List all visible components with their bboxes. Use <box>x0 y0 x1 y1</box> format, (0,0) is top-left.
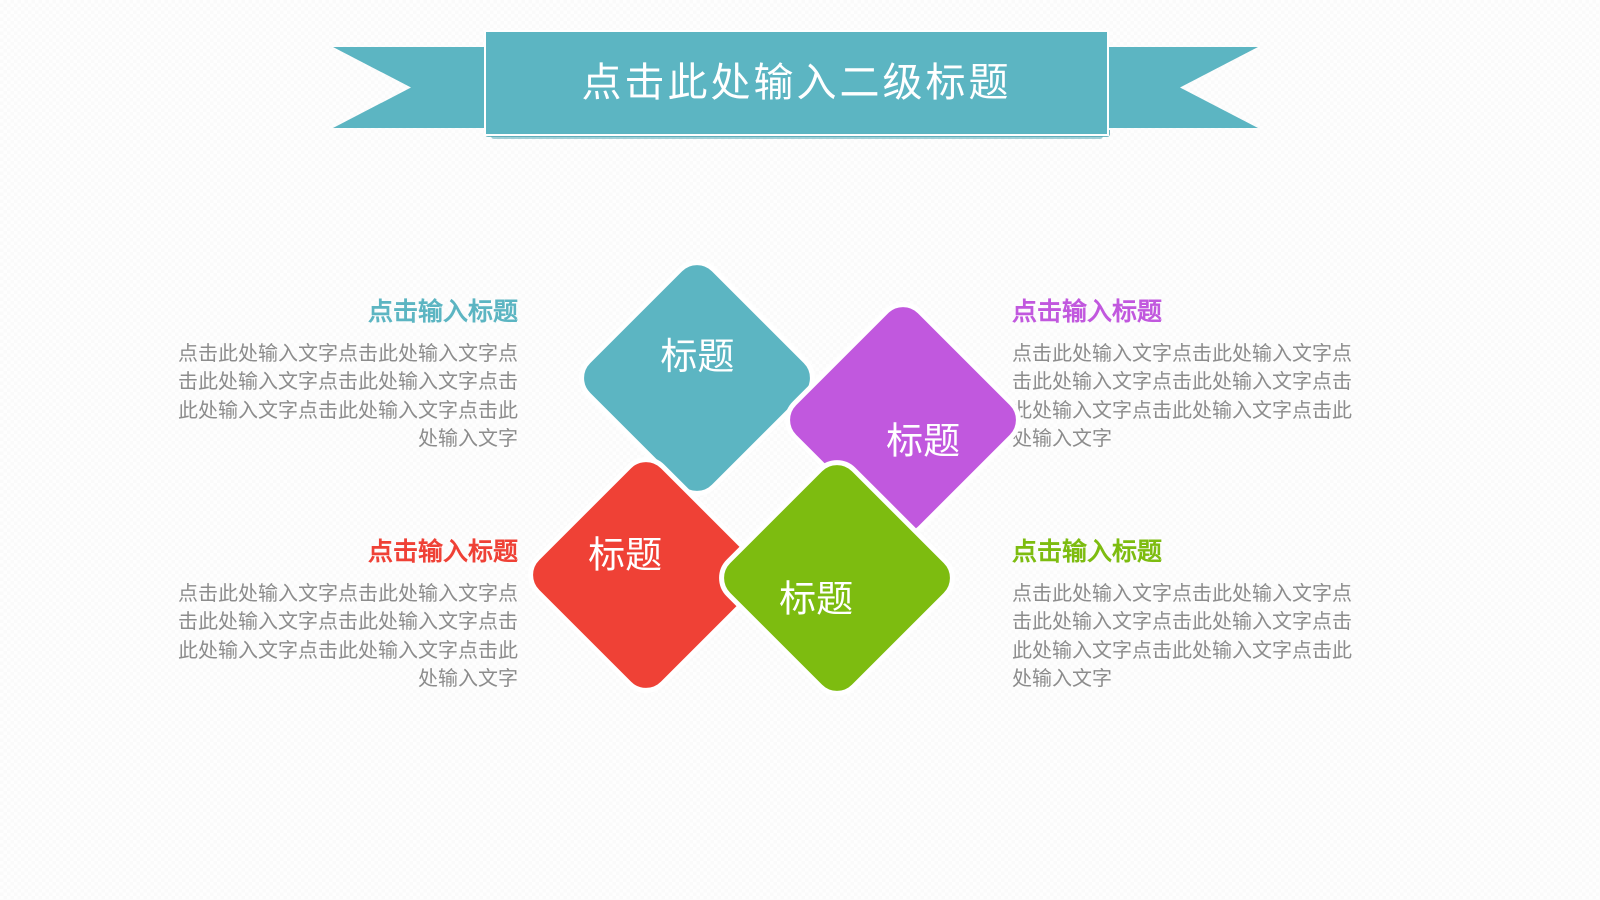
ribbon-banner: 点击此处输入二级标题 <box>333 30 1258 142</box>
diamond-label-green: 标题 <box>779 580 853 617</box>
diamond-label-purple: 标题 <box>887 422 961 459</box>
text-block-heading-bottom-right[interactable]: 点击输入标题 <box>1012 538 1362 567</box>
banner-title[interactable]: 点击此处输入二级标题 <box>582 63 1012 103</box>
text-block-body-top-right[interactable]: 点击此处输入文字点击此处输入文字点击此处输入文字点击此处输入文字点击此处输入文字… <box>1012 339 1362 453</box>
diamond-label-teal: 标题 <box>661 338 735 375</box>
text-block-body-top-left[interactable]: 点击此处输入文字点击此处输入文字点击此处输入文字点击此处输入文字点击此处输入文字… <box>168 339 518 453</box>
text-block-bottom-left: 点击输入标题 点击此处输入文字点击此处输入文字点击此处输入文字点击此处输入文字点… <box>168 538 518 692</box>
diamond-shape-teal[interactable]: 标题 <box>568 249 825 506</box>
text-block-top-right: 点击输入标题 点击此处输入文字点击此处输入文字点击此处输入文字点击此处输入文字点… <box>1012 298 1362 452</box>
diamond-label-red: 标题 <box>588 536 662 573</box>
text-block-top-left: 点击输入标题 点击此处输入文字点击此处输入文字点击此处输入文字点击此处输入文字点… <box>168 298 518 452</box>
diamond-cluster: 标题 标题 标题 标题 <box>540 270 1000 720</box>
text-block-heading-bottom-left[interactable]: 点击输入标题 <box>168 538 518 567</box>
text-block-body-bottom-left[interactable]: 点击此处输入文字点击此处输入文字点击此处输入文字点击此处输入文字点击此处输入文字… <box>168 579 518 693</box>
text-block-heading-top-right[interactable]: 点击输入标题 <box>1012 298 1362 327</box>
text-block-bottom-right: 点击输入标题 点击此处输入文字点击此处输入文字点击此处输入文字点击此处输入文字点… <box>1012 538 1362 692</box>
ribbon-panel: 点击此处输入二级标题 <box>484 30 1109 136</box>
text-block-body-bottom-right[interactable]: 点击此处输入文字点击此处输入文字点击此处输入文字点击此处输入文字点击此处输入文字… <box>1012 579 1362 693</box>
text-block-heading-top-left[interactable]: 点击输入标题 <box>168 298 518 327</box>
slide-canvas: 点击此处输入二级标题 标题 标题 标题 标题 点击输入标题 点击此处输入文字点击… <box>0 0 1600 900</box>
